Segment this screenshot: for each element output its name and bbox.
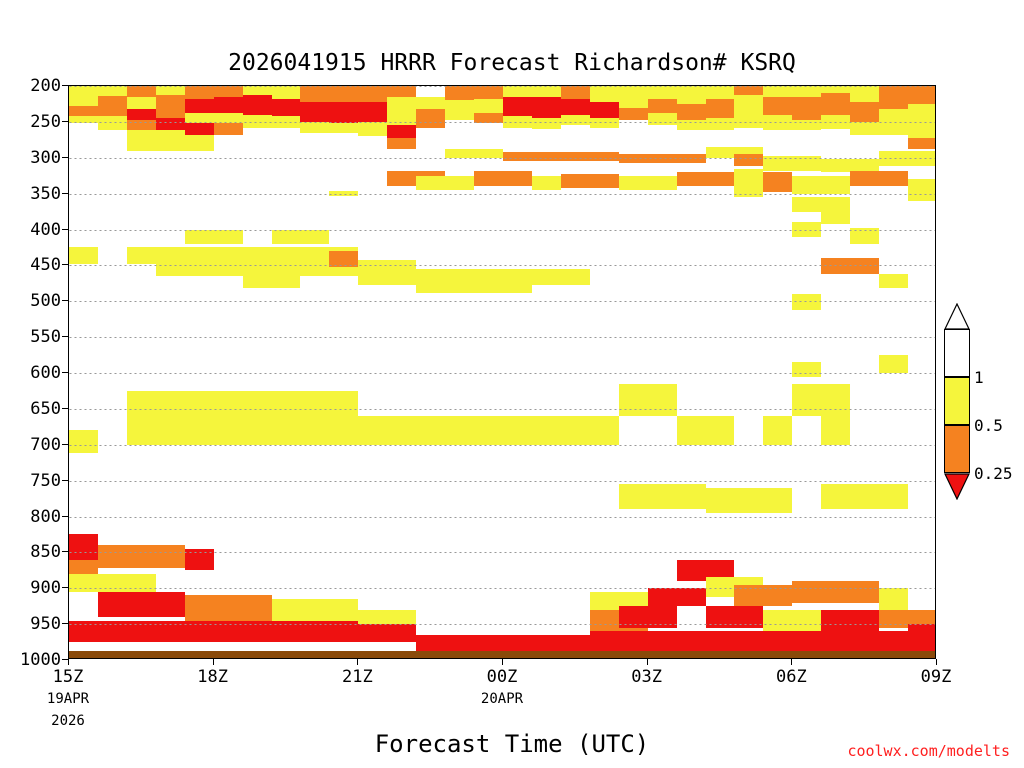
heatmap-cell [821, 93, 850, 115]
heatmap-cell [98, 545, 185, 568]
heatmap-cell [648, 113, 677, 125]
heatmap-cell [69, 247, 98, 264]
heatmap-cell [127, 109, 156, 120]
heatmap-cell [127, 420, 358, 445]
y-tick-mark [62, 121, 68, 122]
heatmap-cell [648, 86, 677, 99]
heatmap-cell [590, 631, 936, 653]
heatmap-cell [763, 97, 792, 115]
heatmap-cell [272, 86, 301, 99]
heatmap-cell [648, 588, 706, 606]
heatmap-cell [763, 115, 792, 131]
heatmap-cell [763, 610, 821, 632]
heatmap-cell [69, 534, 98, 559]
heatmap-cell [185, 595, 272, 620]
heatmap-cell [532, 118, 561, 129]
x-tick-mark [936, 659, 937, 665]
y-tick-mark [62, 264, 68, 265]
heatmap-cell [329, 86, 358, 102]
heatmap-cell [445, 86, 474, 100]
heatmap-cell [156, 118, 185, 130]
x-tick-mark [791, 659, 792, 665]
heatmap-cell [300, 86, 329, 102]
heatmap-cell [69, 116, 98, 123]
colorbar-segment [944, 329, 970, 377]
heatmap-cell [243, 86, 272, 95]
y-tick-mark [62, 516, 68, 517]
heatmap-cell [185, 113, 214, 123]
heatmap-cell [561, 86, 590, 99]
heatmap-cell [908, 179, 936, 201]
heatmap-cell [763, 86, 792, 97]
x-tick-label: 18Z [197, 667, 228, 687]
x-tick-mark [647, 659, 648, 665]
heatmap-cell [503, 97, 532, 116]
heatmap-cell [503, 152, 619, 161]
y-tick-mark [62, 229, 68, 230]
heatmap-cell [734, 169, 763, 198]
heatmap-cell [243, 273, 301, 289]
heatmap-cell [69, 86, 98, 106]
heatmap-cell [503, 86, 532, 97]
heatmap-cell [792, 362, 821, 376]
heatmap-cell [416, 109, 445, 128]
heatmap-cell [850, 86, 879, 102]
heatmap-cell [850, 171, 908, 187]
heatmap-cell [69, 560, 98, 574]
y-tick-mark [62, 623, 68, 624]
y-tick-mark [62, 551, 68, 552]
y-tick-mark [62, 372, 68, 373]
y-tick-label: 500 [30, 291, 61, 311]
heatmap-cell [879, 355, 908, 373]
x-tick-sublabel: 19APR [47, 691, 89, 707]
heatmap-cell [185, 230, 243, 244]
y-tick-label: 250 [30, 112, 61, 132]
heatmap-cell [908, 104, 936, 138]
heatmap-cell [677, 86, 706, 104]
y-tick-label: 750 [30, 471, 61, 491]
heatmap-cell [387, 138, 416, 149]
heatmap-cell [214, 86, 243, 97]
heatmap-cell [908, 138, 936, 149]
heatmap-cell [185, 86, 214, 99]
x-tick-label: 03Z [631, 667, 662, 687]
heatmap-cell [358, 610, 416, 624]
y-tick-mark [62, 85, 68, 86]
heatmap-cell [619, 86, 648, 108]
heatmap-cell [792, 222, 821, 236]
heatmap-cell [69, 106, 98, 116]
heatmap-cell [243, 115, 272, 128]
x-tick-label: 06Z [776, 667, 807, 687]
y-tick-label: 950 [30, 614, 61, 634]
heatmap-cell [619, 108, 648, 121]
heatmap-cell [272, 230, 330, 244]
heatmap-cell [156, 95, 185, 119]
heatmap-cell [706, 99, 735, 118]
heatmap-cell [821, 416, 850, 445]
heatmap-cell [329, 123, 358, 133]
heatmap-cell [474, 113, 503, 123]
x-tick-label: 09Z [921, 667, 952, 687]
heatmap-cell [648, 99, 677, 113]
heatmap-cell [677, 120, 706, 130]
heatmap-cell [561, 115, 590, 126]
heatmap-cell [243, 95, 272, 115]
heatmap-cell [879, 588, 908, 610]
heatmap-cell [416, 97, 445, 109]
heatmap-cell [185, 99, 214, 113]
colorbar: 10.50.25 [944, 303, 970, 468]
heatmap-cell [706, 488, 793, 513]
heatmap-cell [677, 416, 735, 445]
heatmap-cell [821, 484, 908, 509]
heatmap-cell [619, 384, 677, 416]
heatmap-cell [127, 391, 358, 420]
heatmap-cell [561, 174, 619, 188]
x-tick-mark [502, 659, 503, 665]
heatmap-cell [387, 97, 416, 126]
heatmap-cell [127, 120, 156, 130]
heatmap-cell [474, 99, 503, 113]
heatmap-cell [329, 102, 358, 124]
heatmap-cell [821, 115, 850, 129]
heatmap-cell [734, 585, 792, 607]
heatmap-cell [98, 86, 127, 96]
colorbar-tick-label: 0.25 [974, 464, 1013, 483]
chart-canvas: 2026041915 HRRR Forecast Richardson# KSR… [0, 0, 1024, 768]
heatmap-cell [445, 100, 474, 120]
heatmap-cell [185, 549, 214, 571]
heatmap-cell [98, 116, 127, 130]
heatmap-cell [127, 97, 156, 109]
heatmap-cell [619, 154, 706, 163]
heatmap-cell [214, 123, 243, 134]
x-tick-mark [68, 659, 69, 665]
y-tick-label: 650 [30, 399, 61, 419]
heatmap-cell [156, 86, 185, 95]
heatmap-cell [677, 104, 706, 121]
heatmap-cell [821, 86, 850, 93]
heatmap-cell [792, 384, 850, 416]
colorbar-tick-label: 0.5 [974, 416, 1003, 435]
heatmap-cell [272, 99, 301, 116]
y-tick-label: 400 [30, 220, 61, 240]
y-tick-label: 350 [30, 184, 61, 204]
heatmap-cell [763, 156, 821, 170]
credit-text: coolwx.com/modelts [847, 742, 1010, 760]
x-tick-mark [357, 659, 358, 665]
x-tick-sublabel: 20APR [481, 691, 523, 707]
heatmap-cell [69, 574, 98, 592]
y-tick-label: 900 [30, 578, 61, 598]
x-tick-sublabel: 2026 [51, 713, 85, 729]
y-tick-mark [62, 193, 68, 194]
heatmap-cell [763, 172, 792, 192]
y-tick-mark [62, 480, 68, 481]
heatmap-cell [677, 172, 735, 186]
colorbar-segment [944, 425, 970, 473]
heatmap-cell [532, 97, 561, 119]
heatmap-cell [821, 209, 850, 223]
colorbar-segment [944, 377, 970, 425]
heatmap-cell [358, 102, 387, 122]
y-tick-label: 200 [30, 76, 61, 96]
heatmap-cell [850, 102, 879, 122]
heatmap-cell [387, 86, 416, 97]
heatmap-cell [879, 86, 908, 109]
heatmap-cell [214, 113, 243, 123]
heatmap-cell [879, 151, 936, 167]
x-tick-label: 21Z [342, 667, 373, 687]
heatmap-cell [358, 86, 387, 102]
heatmap-cell [734, 86, 763, 95]
heatmap-cell [590, 86, 619, 102]
heatmap-cell [706, 118, 735, 130]
heatmap-cell [792, 581, 879, 603]
heatmap-cell [532, 86, 561, 97]
y-tick-label: 300 [30, 148, 61, 168]
heatmap-cell [416, 635, 590, 653]
heatmap-cell [590, 102, 619, 119]
y-tick-label: 850 [30, 542, 61, 562]
chart-title: 2026041915 HRRR Forecast Richardson# KSR… [0, 50, 1024, 76]
heatmap-cell [300, 102, 329, 122]
heatmap-cell [387, 125, 416, 137]
heatmap-cell [474, 171, 532, 187]
y-tick-mark [62, 300, 68, 301]
heatmap-cell [358, 122, 387, 136]
x-tick-label: 00Z [487, 667, 518, 687]
heatmap-cell [908, 86, 936, 104]
y-tick-mark [62, 587, 68, 588]
heatmap-cell [734, 95, 763, 128]
y-tick-label: 600 [30, 363, 61, 383]
x-tick-label: 15Z [53, 667, 84, 687]
x-tick-mark [213, 659, 214, 665]
heatmap-cell [416, 176, 474, 190]
heatmap-cell [445, 149, 503, 158]
colorbar-bottom-arrow [944, 473, 970, 504]
heatmap-cell [272, 116, 301, 127]
y-tick-mark [62, 157, 68, 158]
heatmap-cell [503, 116, 532, 127]
heatmap-cell [561, 99, 590, 115]
surface-band-top [69, 651, 936, 659]
heatmap-cell [763, 416, 792, 445]
heatmap-cell [127, 86, 156, 97]
heatmap-cell [850, 228, 879, 244]
heatmap-cell [619, 176, 677, 190]
y-tick-label: 800 [30, 507, 61, 527]
heatmap-cell [185, 135, 214, 151]
heatmap-cell [619, 606, 677, 628]
heatmap-cell [127, 130, 156, 150]
heatmap-cell [821, 258, 879, 274]
heatmap-cell [532, 176, 561, 190]
heatmap-cell [329, 251, 358, 267]
heatmap-cell [358, 416, 618, 445]
heatmap-cell [706, 86, 735, 99]
heatmap-cell [69, 430, 98, 453]
heatmap-cell [879, 109, 908, 135]
heatmap-cell [156, 130, 185, 150]
heatmap-cells [69, 86, 935, 658]
heatmap-cell [98, 592, 185, 617]
heatmap-cell [792, 86, 821, 97]
heatmap-cell [619, 484, 706, 509]
y-tick-label: 450 [30, 255, 61, 275]
heatmap-cell [792, 97, 821, 121]
heatmap-cell [734, 154, 763, 166]
heatmap-cell [185, 123, 214, 134]
heatmap-cell [474, 86, 503, 99]
colorbar-tick-label: 1 [974, 368, 984, 387]
heatmap-cell [821, 610, 879, 632]
heatmap-cell [272, 599, 359, 621]
plot-area [68, 85, 936, 659]
heatmap-cell [792, 120, 821, 130]
heatmap-cell [706, 606, 764, 628]
heatmap-cell [792, 176, 850, 194]
y-tick-mark [62, 444, 68, 445]
heatmap-cell [792, 294, 821, 310]
heatmap-cell [850, 122, 879, 135]
heatmap-cell [98, 96, 127, 116]
heatmap-cell [416, 278, 532, 292]
heatmap-cell [879, 274, 908, 288]
heatmap-cell [329, 191, 358, 195]
y-tick-mark [62, 336, 68, 337]
heatmap-cell [300, 122, 329, 133]
y-tick-label: 550 [30, 327, 61, 347]
heatmap-cell [590, 118, 619, 127]
heatmap-cell [214, 97, 243, 114]
y-tick-label: 700 [30, 435, 61, 455]
y-tick-mark [62, 408, 68, 409]
